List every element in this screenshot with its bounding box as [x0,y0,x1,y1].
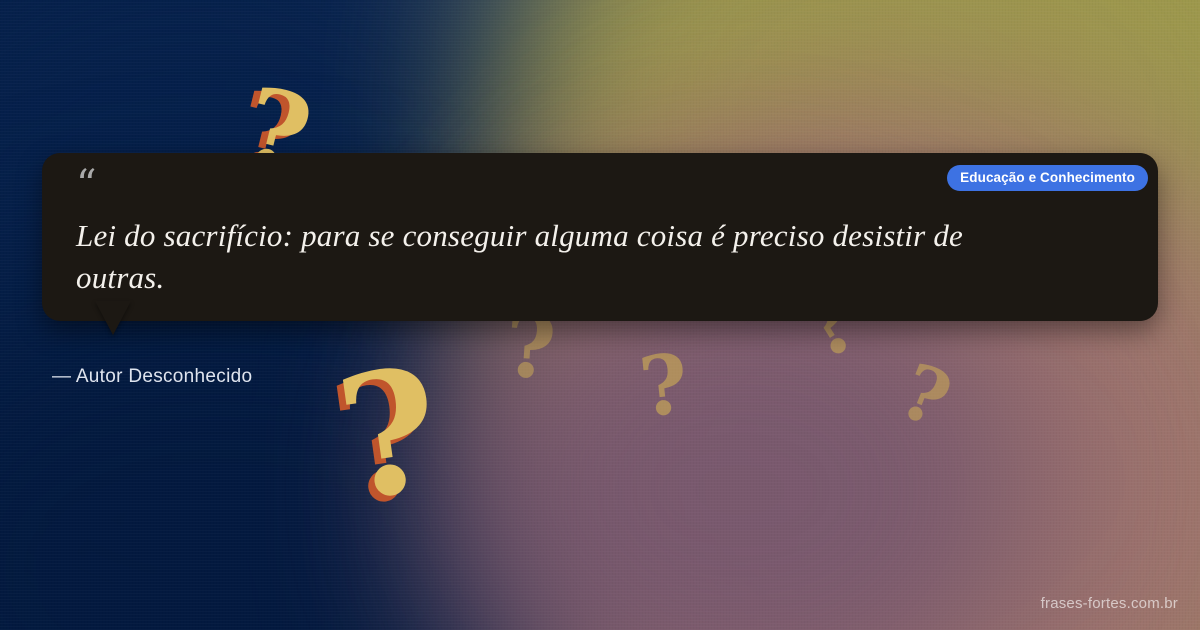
quote-card: “ Lei do sacrifício: para se conseguir a… [42,153,1158,321]
quote-bubble-tail [95,301,131,335]
category-badge[interactable]: Educação e Conhecimento [947,165,1148,191]
author-attribution: — Autor Desconhecido [52,366,252,388]
site-watermark: frases-fortes.com.br [1041,595,1178,612]
quote-image-canvas: ? ? ? ? ? ? “ Lei do sacrifício: para se… [0,0,1200,630]
question-mark-icon-4: ? [636,343,692,430]
quote-text: Lei do sacrifício: para se conseguir alg… [76,215,1026,299]
